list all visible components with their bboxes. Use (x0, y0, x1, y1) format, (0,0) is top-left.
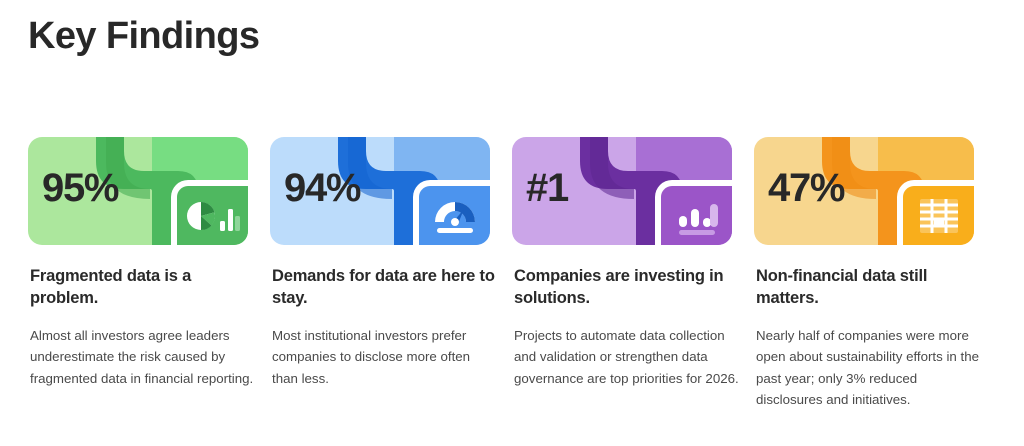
stat-graphic: 94% (270, 137, 490, 245)
finding-title: Companies are investing in solutions. (514, 266, 740, 310)
finding-title: Demands for data are here to stay. (272, 266, 498, 310)
stat-graphic: 95% (28, 137, 248, 245)
finding-body: Projects to automate data collection and… (514, 325, 740, 390)
finding-card: 94% Demands for data are here to stay. M… (270, 137, 498, 411)
finding-title: Non-financial data still matters. (756, 266, 982, 310)
page-title: Key Findings (28, 16, 259, 58)
finding-card: 47% N (754, 137, 982, 411)
stat-graphic: 47% (754, 137, 974, 245)
stat-graphic: #1 (512, 137, 732, 245)
stat-value: 47% (768, 168, 844, 208)
findings-card-list: 95% Fragmented data is a problem. Almost… (28, 137, 996, 411)
stat-value: 94% (284, 168, 360, 208)
stat-value: 95% (42, 168, 118, 208)
pie-bar-chart-icon (171, 180, 248, 245)
gauge-icon (413, 180, 490, 245)
finding-title: Fragmented data is a problem. (30, 266, 256, 310)
finding-body: Most institutional investors prefer comp… (272, 325, 498, 390)
table-grid-icon (897, 180, 974, 245)
finding-body: Almost all investors agree leaders under… (30, 325, 256, 390)
stat-value: #1 (526, 168, 568, 208)
finding-body: Nearly half of companies were more open … (756, 325, 982, 411)
bar-chart-icon (655, 180, 732, 245)
finding-card: 95% Fragmented data is a problem. Almost… (28, 137, 256, 411)
finding-card: #1 Companies are investing in solutions.… (512, 137, 740, 411)
key-findings-page: Key Findings 95% (0, 0, 1024, 446)
